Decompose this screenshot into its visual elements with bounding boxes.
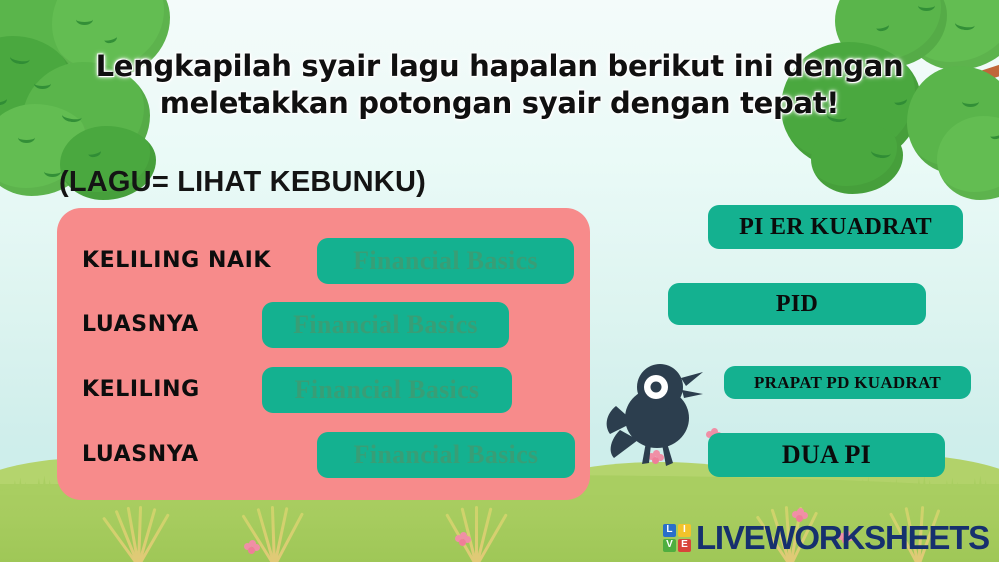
logo-tile-v: V <box>663 539 676 552</box>
logo-tile-e: E <box>678 539 691 552</box>
flower-icon <box>455 532 471 546</box>
answer-chip-dua-pi[interactable]: DUA PI <box>708 433 945 477</box>
dropzone-placeholder: Financial Basics <box>295 375 480 405</box>
lyric-row: LUASNYA Financial Basics <box>57 302 590 348</box>
answer-dropzone[interactable]: Financial Basics <box>262 367 512 413</box>
dropzone-placeholder: Financial Basics <box>353 246 538 276</box>
logo-tile-i: I <box>678 524 691 537</box>
answer-chip-label: PRAPAT PD KUADRAT <box>754 373 941 393</box>
answer-chip-label: PI ER KUADRAT <box>739 214 932 241</box>
lyric-label: LUASNYA <box>82 302 199 348</box>
answer-chip-pid[interactable]: PID <box>668 283 926 325</box>
answer-dropzone[interactable]: Financial Basics <box>317 238 574 284</box>
lyric-row: KELILING Financial Basics <box>57 367 590 413</box>
logo-tiles: L I V E <box>663 524 691 552</box>
answer-chip-label: DUA PI <box>782 440 871 470</box>
answer-dropzone[interactable]: Financial Basics <box>317 432 575 478</box>
liveworksheets-logo[interactable]: L I V E LIVEWORKSHEETS <box>663 521 989 554</box>
logo-tile-l: L <box>663 524 676 537</box>
answer-chip-prapat-pd-kuadrat[interactable]: PRAPAT PD KUADRAT <box>724 366 971 399</box>
lyric-row: KELILING NAIK Financial Basics <box>57 238 590 284</box>
lyric-panel: KELILING NAIK Financial Basics LUASNYA F… <box>57 208 590 500</box>
lyric-label: KELILING <box>82 367 200 413</box>
lyric-row: LUASNYA Financial Basics <box>57 432 590 478</box>
dropzone-placeholder: Financial Basics <box>293 310 478 340</box>
answer-dropzone[interactable]: Financial Basics <box>262 302 509 348</box>
answer-chip-pi-er-kuadrat[interactable]: PI ER KUADRAT <box>708 205 963 249</box>
page-title: Lengkapilah syair lagu hapalan berikut i… <box>0 48 999 122</box>
lyric-label: KELILING NAIK <box>82 238 271 284</box>
worksheet-canvas: Lengkapilah syair lagu hapalan berikut i… <box>0 0 999 562</box>
bird-illustration <box>604 360 714 475</box>
dropzone-placeholder: Financial Basics <box>354 440 539 470</box>
answer-chip-label: PID <box>776 291 818 318</box>
logo-wordmark: LIVEWORKSHEETS <box>696 521 989 554</box>
lyric-label: LUASNYA <box>82 432 199 478</box>
song-subtitle: (LAGU= LIHAT KEBUNKU) <box>59 166 426 199</box>
flower-icon <box>244 540 260 554</box>
